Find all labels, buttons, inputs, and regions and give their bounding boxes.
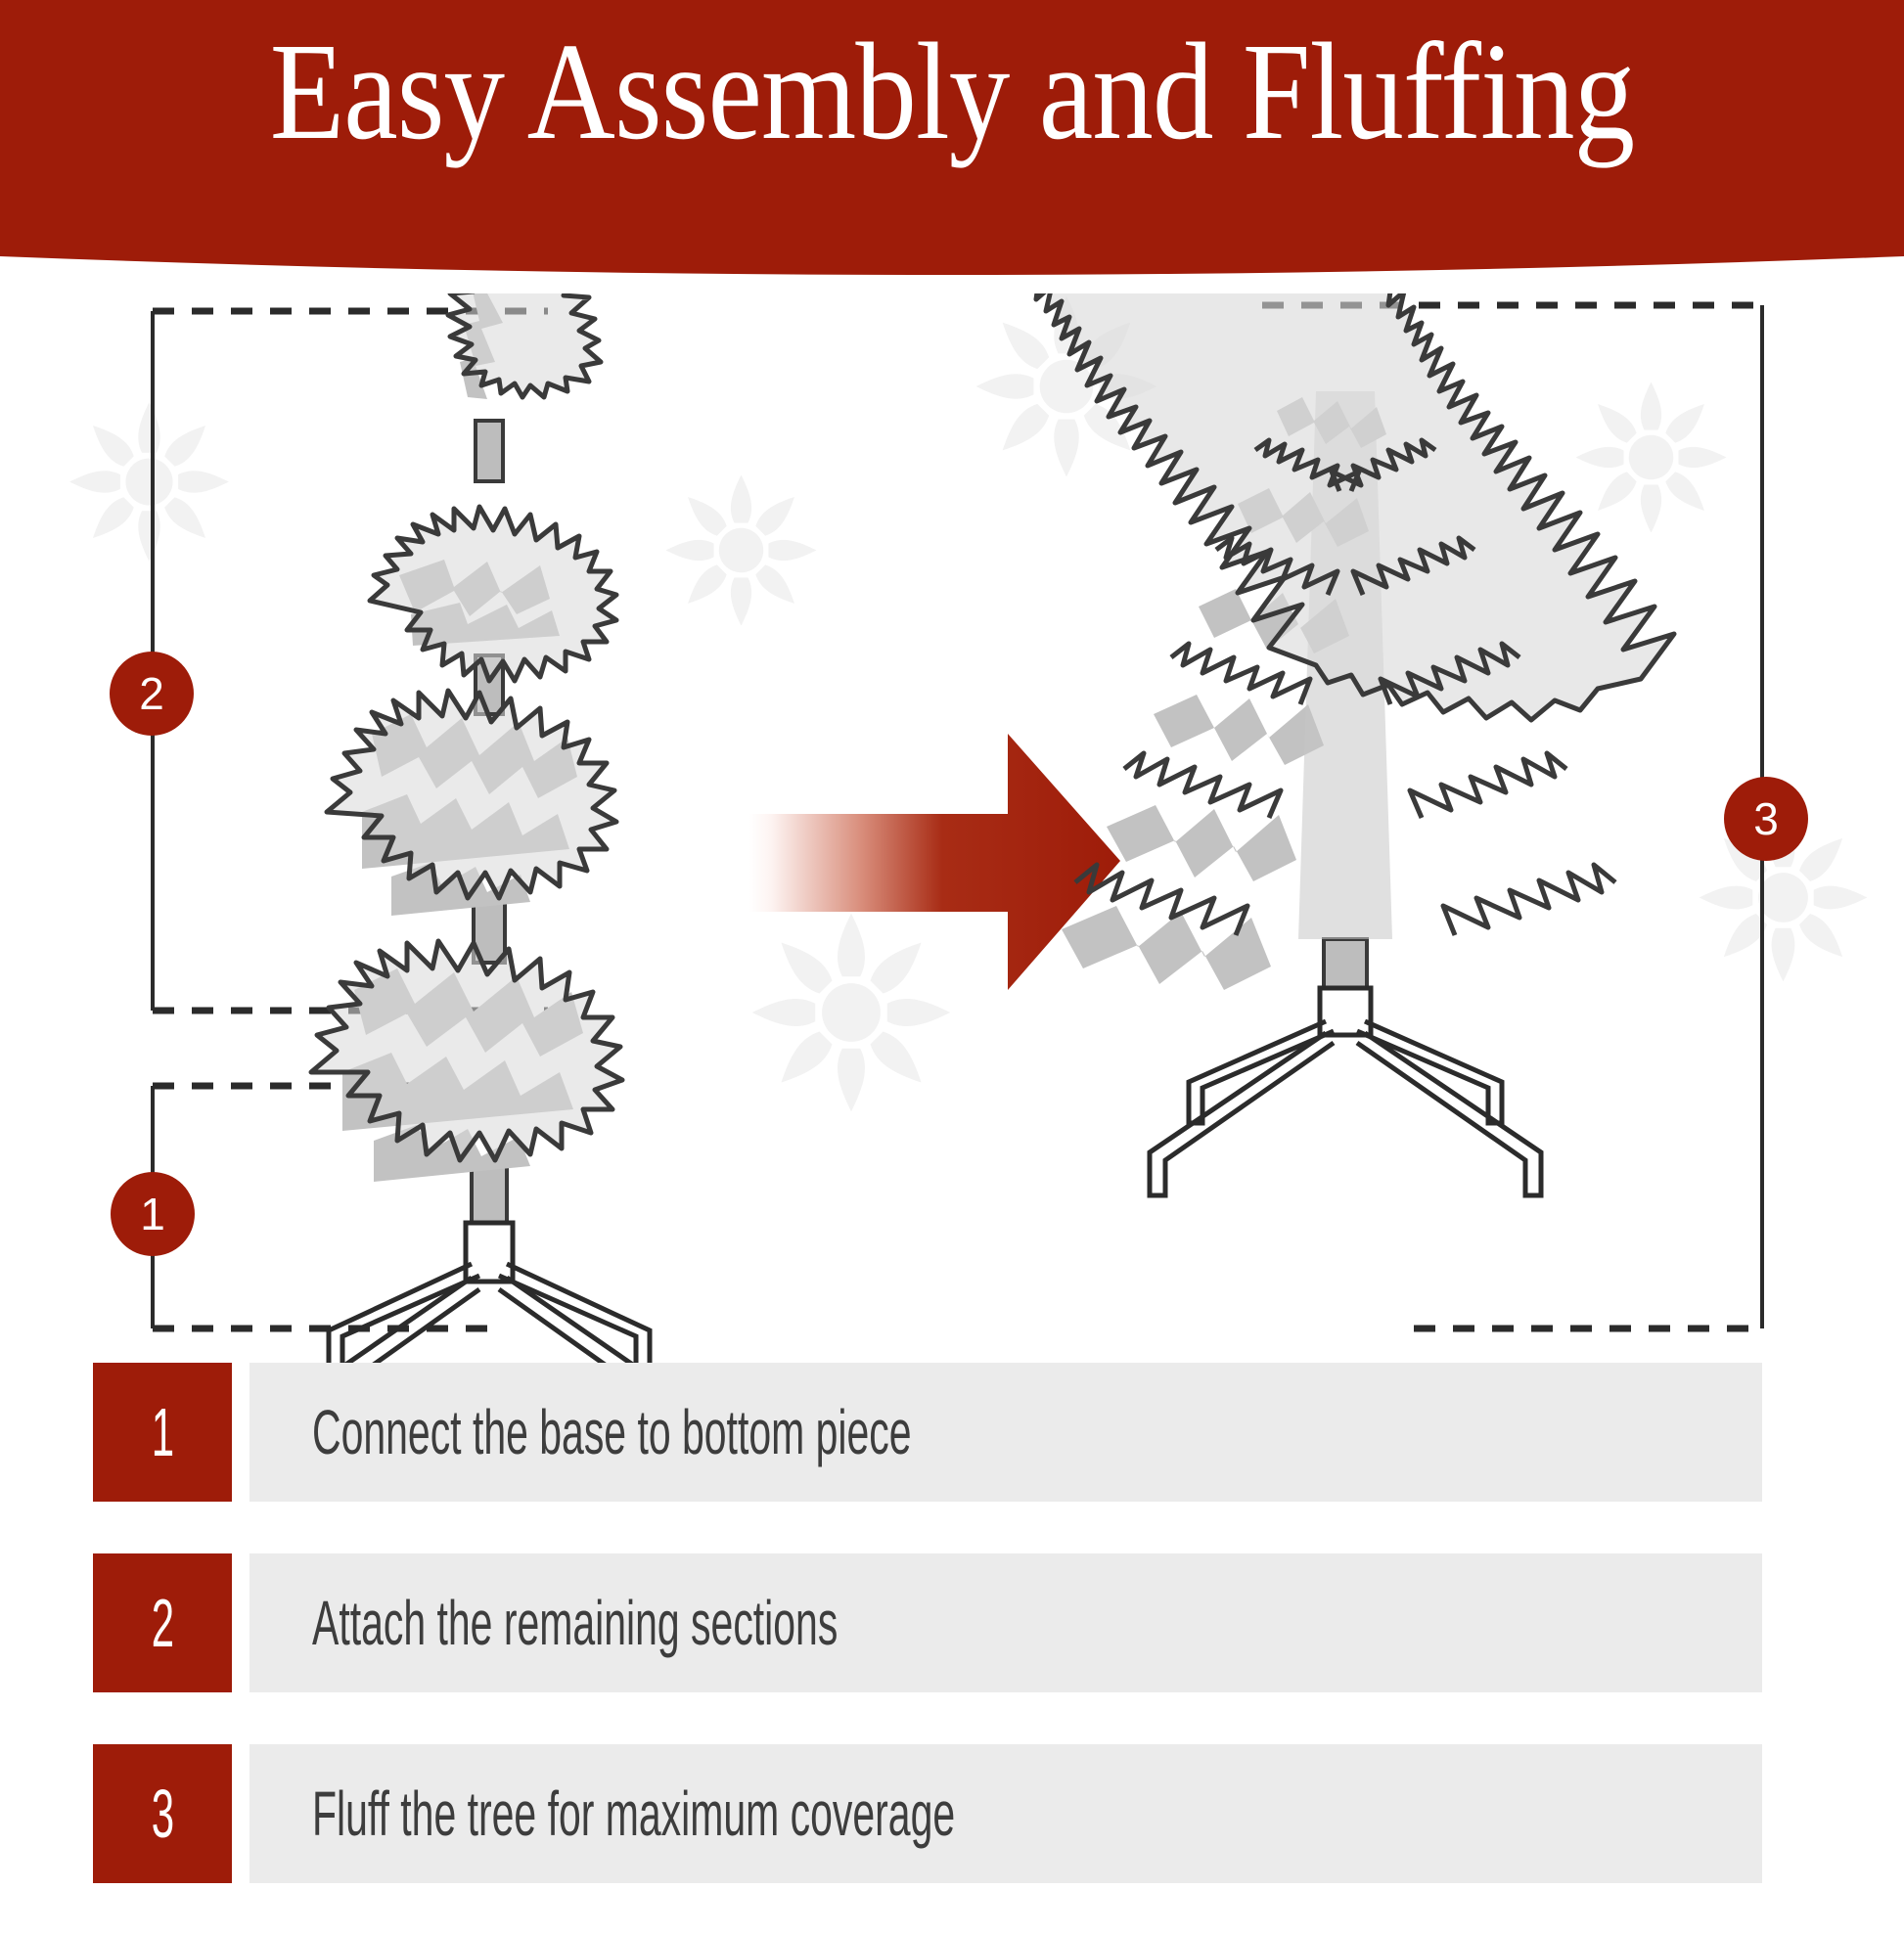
step-label-3: Fluff the tree for maximum coverage (249, 1782, 955, 1845)
bracket-badge-3: 3 (1724, 777, 1808, 861)
assembly-diagram: 2 1 3 (0, 293, 1904, 1370)
step-label-2: Attach the remaining sections (249, 1592, 838, 1654)
bracket-badge-1-label: 1 (140, 1192, 165, 1237)
tree-section-lower-middle (327, 691, 616, 963)
step-list: 1 Connect the base to bottom piece 2 Att… (0, 1363, 1904, 1935)
bracket-badge-1: 1 (111, 1172, 195, 1256)
infographic-canvas: Easy Assembly and Fluffing (0, 0, 1904, 1904)
step-row-1: 1 Connect the base to bottom piece (0, 1363, 1904, 1502)
step-text-bar-1: Connect the base to bottom piece (249, 1363, 1762, 1502)
step-label-1: Connect the base to bottom piece (249, 1401, 912, 1463)
bracket-badge-2: 2 (110, 652, 194, 736)
bracket-badge-3-label: 3 (1753, 796, 1779, 841)
step-number-3: 3 (151, 1779, 173, 1848)
step-row-2: 2 Attach the remaining sections (0, 1553, 1904, 1692)
bracket-badge-2-label: 2 (139, 671, 164, 716)
tree-section-bottom (311, 941, 622, 1225)
header-banner: Easy Assembly and Fluffing (0, 0, 1904, 293)
step-row-3: 3 Fluff the tree for maximum coverage (0, 1744, 1904, 1883)
tree-section-top (448, 293, 601, 481)
step-number-1: 1 (151, 1398, 173, 1466)
step-text-bar-2: Attach the remaining sections (249, 1553, 1762, 1692)
tree-stand-left (288, 1223, 691, 1370)
diagram-artwork (0, 293, 1904, 1370)
right-arrow-shape (749, 734, 1120, 990)
page-title: Easy Assembly and Fluffing (114, 22, 1790, 160)
step-number-badge-3: 3 (93, 1744, 232, 1883)
step-number-badge-2: 2 (93, 1553, 232, 1692)
step-number-2: 2 (151, 1589, 173, 1657)
tree-section-upper-middle (370, 507, 616, 714)
step-text-bar-3: Fluff the tree for maximum coverage (249, 1744, 1762, 1883)
assembled-tree (1030, 293, 1674, 1195)
step-number-badge-1: 1 (93, 1363, 232, 1502)
snowflake-watermarks (69, 296, 1867, 1112)
